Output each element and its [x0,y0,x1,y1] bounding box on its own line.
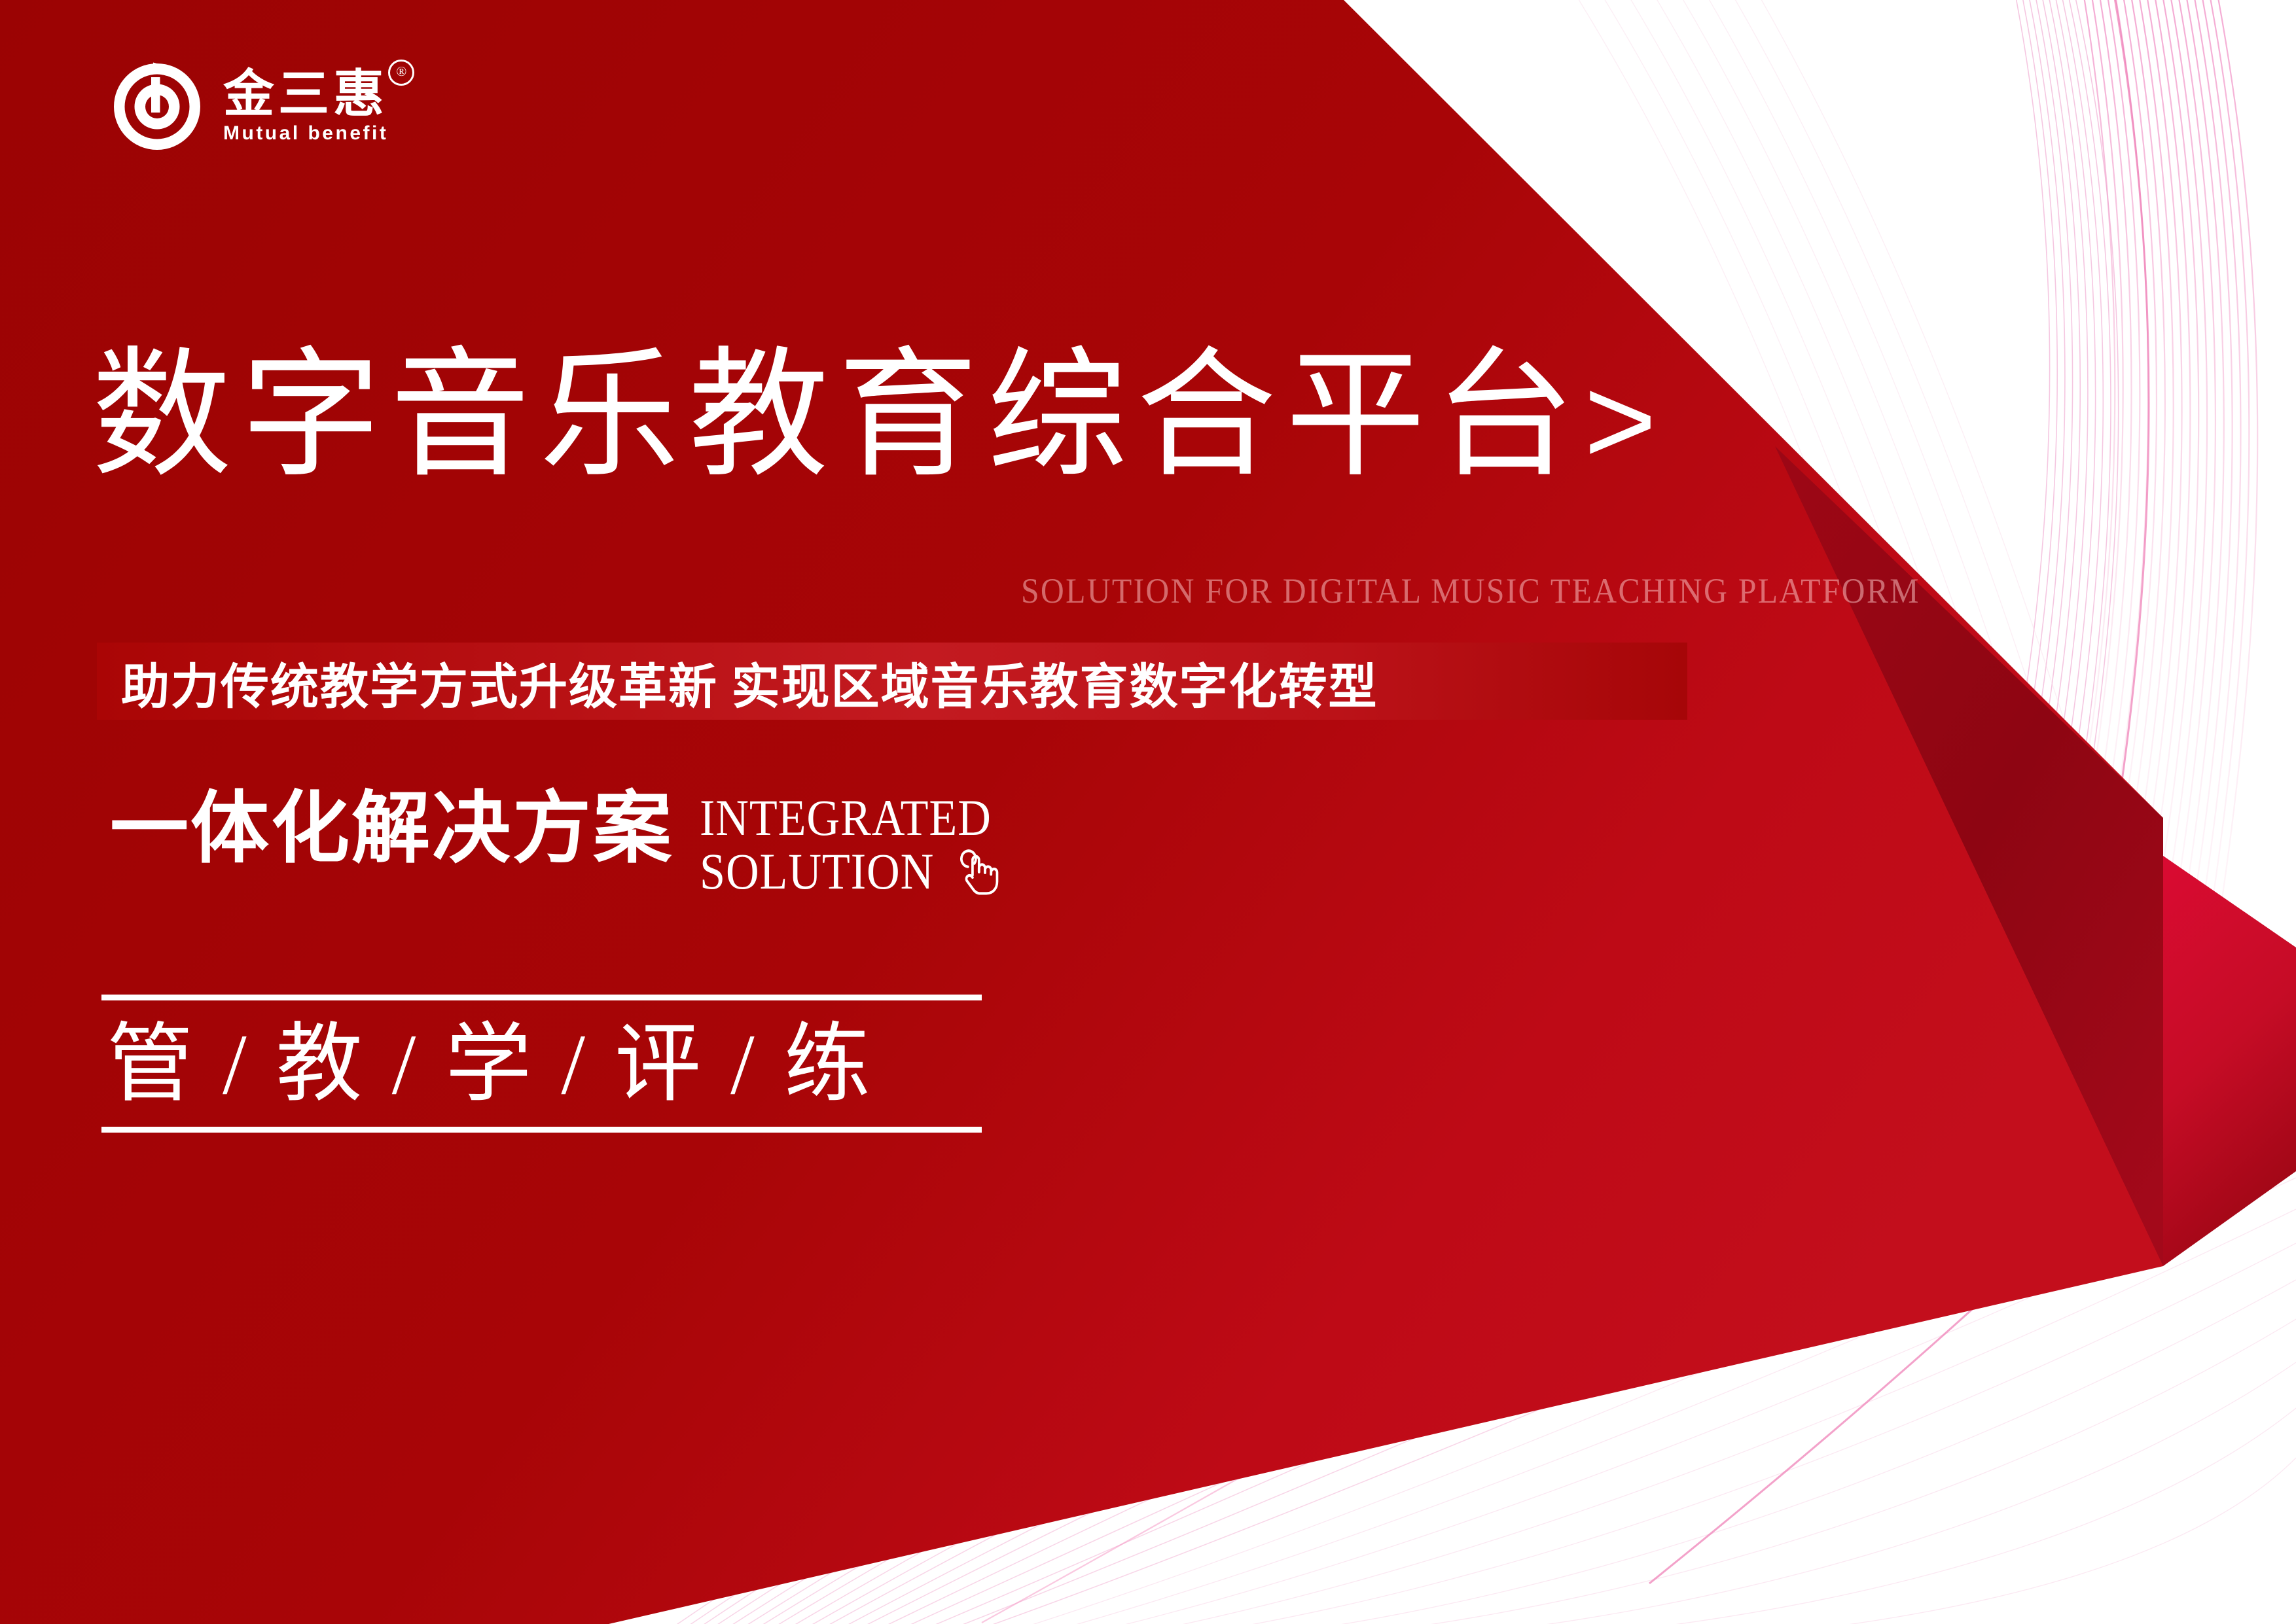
page-title: 数字音乐教育综合平台> [92,347,1657,487]
brand-name-cn: 金三惠 [223,69,388,118]
page-subtitle-en: SOLUTION FOR DIGITAL MUSIC TEACHING PLAT… [1021,571,1920,611]
solution-label-en: INTEGRATED SOLUTION [700,792,1001,899]
solution-label-en-line2: SOLUTION [700,845,934,898]
registered-trademark-icon: ® [388,60,414,86]
chevron-right-icon: > [1584,351,1657,490]
pillars-rule-top [101,995,982,1000]
poster-canvas: 金三惠 Mutual benefit ® 数字音乐教育综合平台> SOLUTIO… [0,0,2296,1624]
solution-label-en-line1: INTEGRATED [700,792,1001,844]
brand-logo[interactable]: 金三惠 Mutual benefit ® [108,58,388,156]
pillars-block: 管 / 教 / 学 / 评 / 练 [101,995,982,1133]
brand-wordmark: 金三惠 Mutual benefit ® [223,69,388,145]
content-layer: 金三惠 Mutual benefit ® 数字音乐教育综合平台> SOLUTIO… [0,0,2296,1624]
solution-block: 一体化解决方案 INTEGRATED SOLUTION [110,785,1035,899]
brand-name-en: Mutual benefit [223,122,388,145]
pointing-hand-cursor-icon [956,848,1001,899]
circular-music-note-logo-icon [108,58,206,156]
pillars-text: 管 / 教 / 学 / 评 / 练 [101,1000,982,1127]
solution-label-cn: 一体化解决方案 [110,785,673,873]
page-title-text: 数字音乐教育综合平台 [92,339,1584,494]
tagline-text: 助力传统教学方式升级革新 实现区域音乐教育数字化转型 [121,648,1378,718]
pillars-rule-bottom [101,1127,982,1133]
